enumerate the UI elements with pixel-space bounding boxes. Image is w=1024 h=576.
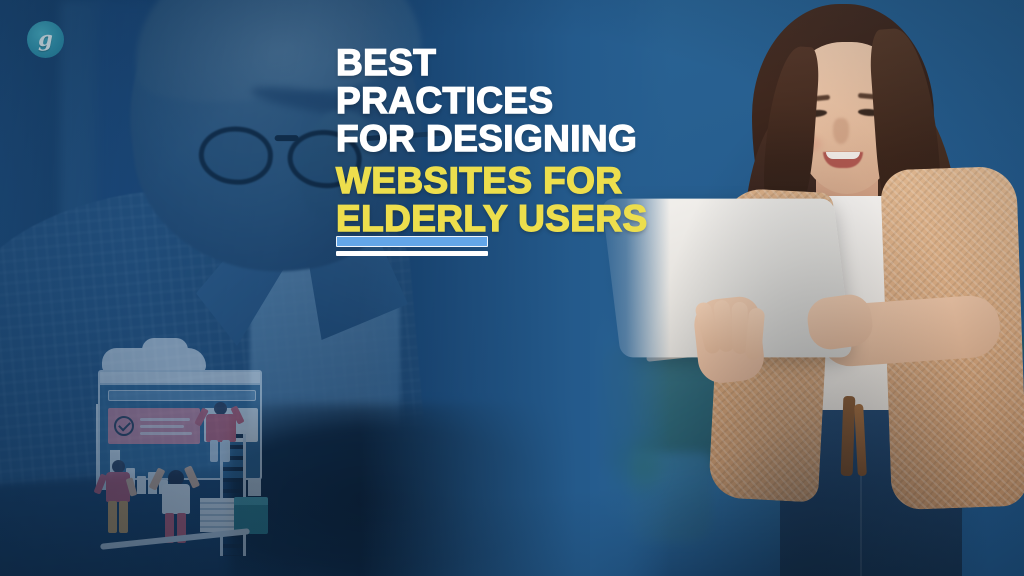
person-leg [210,440,218,462]
website-building-illustration [96,348,276,558]
headline-line-1: BEST [336,44,776,82]
highlight-card [108,408,200,444]
title-underline [336,236,496,256]
headline-line-2: PRACTICES [336,82,776,120]
card-text-line [140,425,184,428]
person-leg [108,501,117,533]
underline-bar-white [336,251,488,256]
card-text-line [140,418,190,421]
headline-line-3: FOR DESIGNING [336,120,776,158]
person-torso [162,484,190,514]
headline-line-5: ELDERLY USERS [336,200,776,238]
check-icon [114,416,134,436]
person-leg [119,501,128,533]
banner-canvas: BEST PRACTICES FOR DESIGNING WEBSITES FO… [0,0,1024,576]
brand-logo[interactable]: g [27,21,64,58]
headline-line-4: WEBSITES FOR [336,162,776,200]
brand-logo-glyph: g [38,28,53,49]
chart-bar [137,476,146,494]
card-text-line [140,432,192,435]
page-title: BEST PRACTICES FOR DESIGNING WEBSITES FO… [336,44,776,238]
browser-titlebar [100,372,260,385]
person-torso [106,472,130,502]
person-torso [206,414,236,442]
person-leg [222,440,230,462]
browser-url-bar [108,390,256,401]
underline-bar-blue [336,236,488,247]
